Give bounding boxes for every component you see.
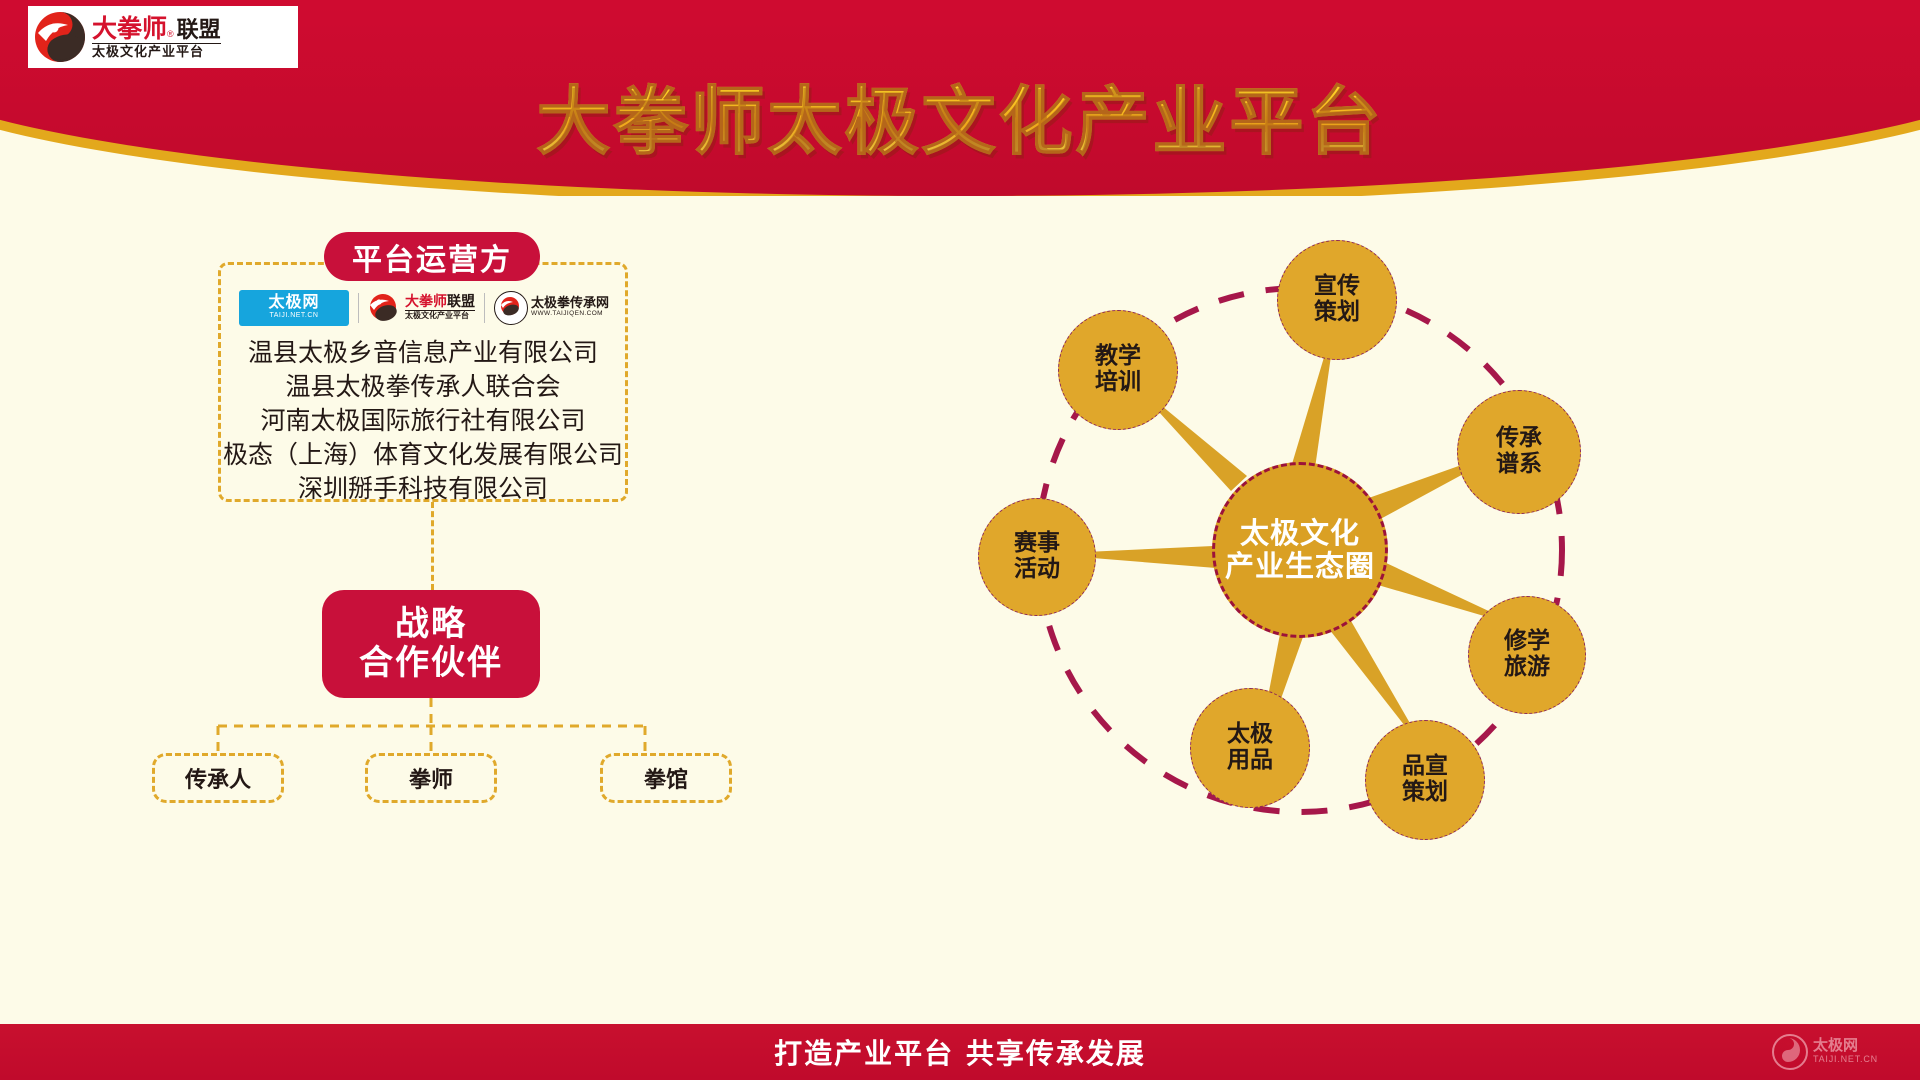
operator-company-item: 深圳掰手科技有限公司 xyxy=(218,472,628,506)
page-title: 大拳师太极文化产业平台 xyxy=(0,62,1920,169)
node-label-line1: 赛事 xyxy=(1014,531,1060,557)
watermark-name: 太极网 xyxy=(1813,1038,1878,1053)
chuancheng-domain: WWW.TAIJIQEN.COM xyxy=(531,310,609,318)
strategic-partner-box: 战略 合作伙伴 xyxy=(322,590,540,698)
operator-to-partner-connector xyxy=(431,502,434,590)
watermark-domain: TAIJI.NET.CN xyxy=(1813,1053,1878,1066)
page-header: 大拳师 ® 联盟 太极文化产业平台 大拳师太极文化产业平台 xyxy=(0,0,1920,196)
daquanshi-sub: 太极文化产业平台 xyxy=(405,310,475,321)
node-label-line2: 活动 xyxy=(1014,557,1060,583)
taiji-net-domain: TAIJI.NET.CN xyxy=(269,311,318,321)
registered-mark-icon: ® xyxy=(167,29,174,39)
ecosystem-diagram: 太极文化 产业生态圈 宣传 策划 传承 谱系 修学 旅游 品宣 策划 太极 用品… xyxy=(860,210,1870,830)
ecosystem-node-xiuxue-lvyou[interactable]: 修学 旅游 xyxy=(1468,596,1586,714)
leaf-node-gym: 拳馆 xyxy=(600,753,732,803)
taiji-watermark-icon xyxy=(1772,1034,1808,1070)
node-label-line1: 修学 xyxy=(1504,629,1550,655)
taiji-yinyang-icon xyxy=(34,11,86,63)
leaf-node-inheritor: 传承人 xyxy=(152,753,284,803)
hub-line2: 产业生态圈 xyxy=(1225,550,1375,583)
daquanshi-logo: 大拳师联盟 太极文化产业平台 xyxy=(359,288,484,328)
taijiquan-chuancheng-logo: 太极拳传承网 WWW.TAIJIQEN.COM xyxy=(485,288,618,328)
node-label-line2: 谱系 xyxy=(1496,452,1542,478)
chuancheng-mark-icon xyxy=(494,291,528,325)
partner-logo-row: 太极网 TAIJI.NET.CN 大拳师联盟 太极文化产业平台 xyxy=(228,286,620,330)
node-label-line2: 培训 xyxy=(1095,370,1141,396)
chuancheng-name: 太极拳传承网 xyxy=(531,297,609,310)
footer-watermark: 太极网 TAIJI.NET.CN xyxy=(1772,1032,1902,1072)
operator-company-item: 温县太极乡音信息产业有限公司 xyxy=(218,336,628,370)
node-label-line2: 用品 xyxy=(1227,748,1273,774)
page-footer: 打造产业平台 共享传承发展 太极网 TAIJI.NET.CN xyxy=(0,1024,1920,1080)
node-label-line1: 品宣 xyxy=(1402,754,1448,780)
brand-logo: 大拳师 ® 联盟 太极文化产业平台 xyxy=(28,6,298,68)
leaf-node-master: 拳师 xyxy=(365,753,497,803)
footer-slogan: 打造产业平台 共享传承发展 xyxy=(0,1024,1920,1080)
node-label-line2: 策划 xyxy=(1314,300,1360,326)
hub-line1: 太极文化 xyxy=(1240,517,1360,550)
ecosystem-node-chuancheng-puxi[interactable]: 传承 谱系 xyxy=(1457,390,1581,514)
logo-alliance-text: 联盟 xyxy=(177,19,221,41)
operator-company-item: 河南太极国际旅行社有限公司 xyxy=(218,404,628,438)
operator-company-item: 极态（上海）体育文化发展有限公司 xyxy=(218,438,628,472)
node-label-line1: 教学 xyxy=(1095,344,1141,370)
strategic-partner-line1: 战略 xyxy=(395,605,467,644)
daquanshi-alliance: 联盟 xyxy=(447,294,475,310)
operator-title-badge: 平台运营方 xyxy=(324,232,540,281)
node-label-line2: 策划 xyxy=(1402,780,1448,806)
ecosystem-node-jiaoxue-peixun[interactable]: 教学 培训 xyxy=(1058,310,1178,430)
ecosystem-node-xuanchuan-cehua[interactable]: 宣传 策划 xyxy=(1277,240,1397,360)
taiji-net-logo: 太极网 TAIJI.NET.CN xyxy=(230,288,358,328)
ecosystem-node-saishi-huodong[interactable]: 赛事 活动 xyxy=(978,498,1096,616)
ecosystem-hub: 太极文化 产业生态圈 xyxy=(1212,462,1388,638)
operator-company-item: 温县太极拳传承人联合会 xyxy=(218,370,628,404)
node-label-line1: 太极 xyxy=(1227,722,1273,748)
node-label-line2: 旅游 xyxy=(1504,655,1550,681)
ecosystem-node-pinxuan-cehua[interactable]: 品宣 策划 xyxy=(1365,720,1485,840)
taiji-net-name: 太极网 xyxy=(268,295,319,311)
node-label-line1: 宣传 xyxy=(1314,274,1360,300)
operator-company-list: 温县太极乡音信息产业有限公司 温县太极拳传承人联合会 河南太极国际旅行社有限公司… xyxy=(218,336,628,506)
ecosystem-node-taiji-yongpin[interactable]: 太极 用品 xyxy=(1190,688,1310,808)
daquanshi-mark-icon xyxy=(368,293,402,323)
logo-brand-text: 大拳师 xyxy=(92,16,167,41)
logo-subtitle: 太极文化产业平台 xyxy=(92,45,221,59)
daquanshi-name: 大拳师 xyxy=(405,294,447,310)
node-label-line1: 传承 xyxy=(1496,426,1542,452)
strategic-partner-line2: 合作伙伴 xyxy=(359,644,503,683)
